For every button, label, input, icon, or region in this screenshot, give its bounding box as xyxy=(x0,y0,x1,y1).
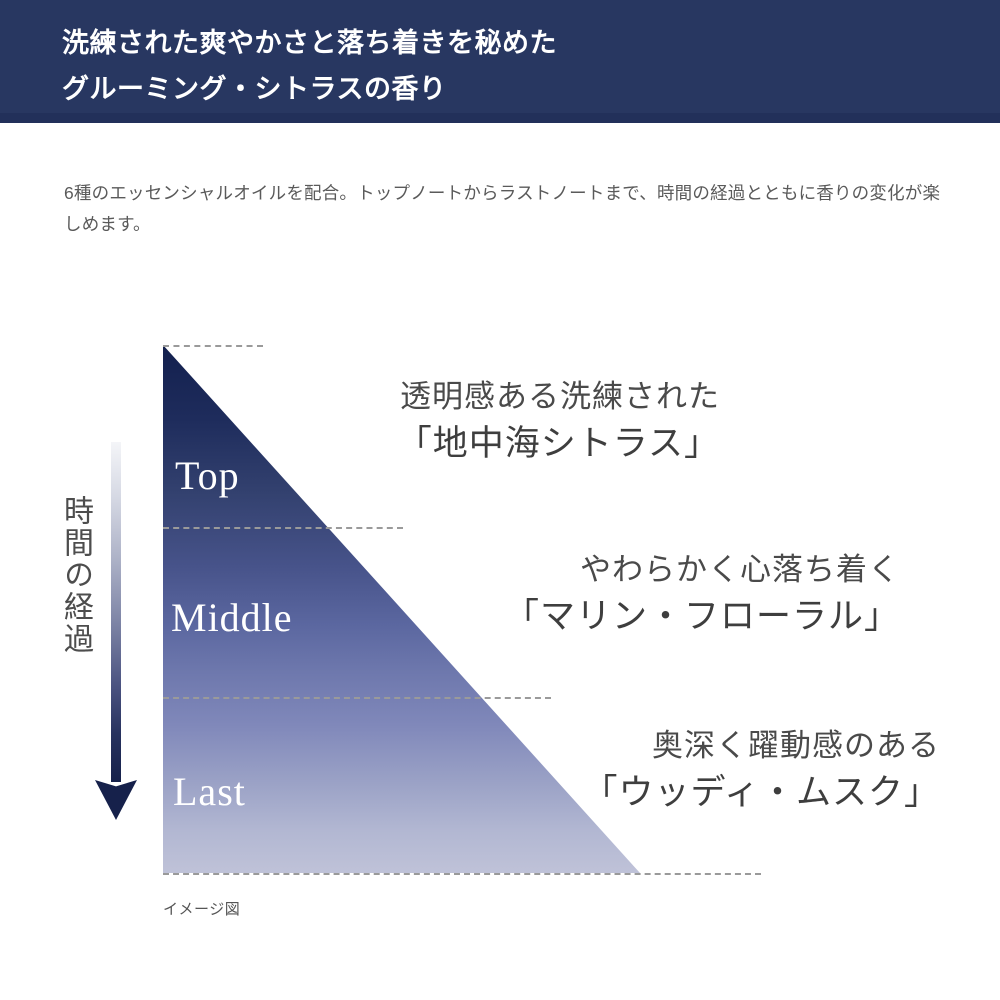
note-last-line-1: 奥深く躍動感のある xyxy=(560,724,940,768)
time-axis-label: 時間の経過 xyxy=(60,495,96,655)
time-axis-arrow-head-icon xyxy=(95,780,137,820)
divider-line-bottom xyxy=(163,873,761,875)
stage-label-last: Last xyxy=(173,768,246,815)
divider-line-top xyxy=(163,345,263,347)
page-root: 洗練された爽やかさと落ち着きを秘めた グルーミング・シトラスの香り 6種のエッセ… xyxy=(0,0,1000,1000)
divider-line-top-middle xyxy=(163,527,403,529)
note-last-line-2: 「ウッディ・ムスク」 xyxy=(560,768,940,818)
stage-label-middle: Middle xyxy=(171,594,293,641)
note-middle-line-2: 「マリン・フローラル」 xyxy=(440,592,900,642)
note-description-top: 透明感ある洗練された 「地中海シトラス」 xyxy=(300,375,720,469)
note-description-middle: やわらかく心落ち着く 「マリン・フローラル」 xyxy=(440,548,900,642)
time-axis-arrow-shaft xyxy=(111,442,121,782)
note-description-last: 奥深く躍動感のある 「ウッディ・ムスク」 xyxy=(560,724,940,818)
stage-label-top: Top xyxy=(175,452,240,499)
note-top-line-2: 「地中海シトラス」 xyxy=(300,419,720,469)
diagram-caption: イメージ図 xyxy=(163,898,240,919)
note-middle-line-1: やわらかく心落ち着く xyxy=(440,548,900,592)
divider-line-middle-last xyxy=(163,697,551,699)
note-top-line-1: 透明感ある洗練された xyxy=(300,375,720,419)
scent-timeline-diagram: Top Middle Last 時間の経過 透明感ある洗練された 「地中海シトラ… xyxy=(0,0,1000,1000)
